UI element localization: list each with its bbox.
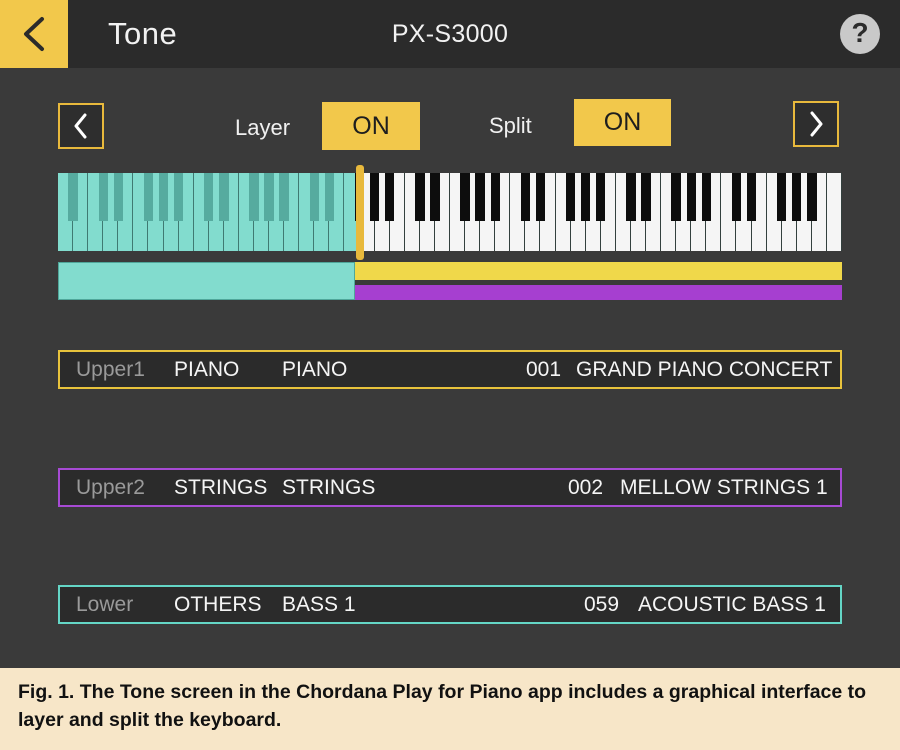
piano-black-key[interactable] xyxy=(807,173,816,221)
piano-black-key[interactable] xyxy=(581,173,590,221)
piano-black-key[interactable] xyxy=(460,173,469,221)
layer-toggle-button[interactable]: ON xyxy=(322,102,420,150)
piano-black-key[interactable] xyxy=(521,173,530,221)
tone-row-upper2[interactable]: Upper2 STRINGS STRINGS 002 MELLOW STRING… xyxy=(58,468,842,507)
tone-name: MELLOW STRINGS 1 xyxy=(620,476,828,500)
piano-black-key[interactable] xyxy=(491,173,500,221)
piano-black-key[interactable] xyxy=(687,173,696,221)
range-bar-upper1 xyxy=(355,262,842,280)
layer-label: Layer xyxy=(235,115,290,141)
piano-black-key[interactable] xyxy=(732,173,741,221)
keyboard-graphic[interactable] xyxy=(58,173,842,251)
piano-black-key[interactable] xyxy=(626,173,635,221)
piano-black-key[interactable] xyxy=(777,173,786,221)
question-mark-icon: ? xyxy=(851,19,868,47)
tone-part-label: Lower xyxy=(76,593,133,617)
tone-category: OTHERS xyxy=(174,593,262,617)
split-point-marker[interactable] xyxy=(356,165,364,260)
piano-black-key[interactable] xyxy=(174,173,183,221)
piano-black-key[interactable] xyxy=(702,173,711,221)
tone-row-upper1[interactable]: Upper1 PIANO PIANO 001 GRAND PIANO CONCE… xyxy=(58,350,842,389)
tone-part-label: Upper1 xyxy=(76,358,145,382)
app-screenshot: PX-S3000 Tone ? Layer ON Split ON xyxy=(0,0,900,668)
piano-black-key[interactable] xyxy=(566,173,575,221)
caption-text: Fig. 1. The Tone screen in the Chordana … xyxy=(18,678,882,735)
next-tone-button[interactable] xyxy=(793,101,839,147)
caption-body: The Tone screen in the Chordana Play for… xyxy=(18,681,866,731)
chevron-left-icon xyxy=(72,113,90,139)
piano-black-key[interactable] xyxy=(430,173,439,221)
piano-black-key[interactable] xyxy=(310,173,319,221)
chevron-right-icon xyxy=(807,111,825,137)
piano-black-key[interactable] xyxy=(144,173,153,221)
figure-label: Fig. 1. xyxy=(18,681,74,703)
tone-subcategory: PIANO xyxy=(282,358,347,382)
piano-black-key[interactable] xyxy=(747,173,756,221)
figure: PX-S3000 Tone ? Layer ON Split ON xyxy=(0,0,900,750)
piano-black-key[interactable] xyxy=(99,173,108,221)
piano-black-key[interactable] xyxy=(596,173,605,221)
tone-subcategory: STRINGS xyxy=(282,476,375,500)
piano-black-key[interactable] xyxy=(219,173,228,221)
piano-black-key[interactable] xyxy=(279,173,288,221)
help-button[interactable]: ? xyxy=(840,14,880,54)
tone-category: PIANO xyxy=(174,358,239,382)
tone-number: 001 xyxy=(526,358,561,382)
piano-black-key[interactable] xyxy=(325,173,334,221)
piano-black-key[interactable] xyxy=(641,173,650,221)
piano-black-key[interactable] xyxy=(370,173,379,221)
tone-row-lower[interactable]: Lower OTHERS BASS 1 059 ACOUSTIC BASS 1 xyxy=(58,585,842,624)
range-bar-upper2 xyxy=(355,285,842,300)
tone-number: 059 xyxy=(584,593,619,617)
range-bar-lower xyxy=(58,262,355,300)
piano-black-key[interactable] xyxy=(415,173,424,221)
piano-white-key[interactable] xyxy=(827,173,842,251)
back-button[interactable] xyxy=(0,0,68,68)
chevron-left-icon xyxy=(21,16,47,52)
tone-number: 002 xyxy=(568,476,603,500)
tone-subcategory: BASS 1 xyxy=(282,593,356,617)
piano-black-key[interactable] xyxy=(385,173,394,221)
piano-black-key[interactable] xyxy=(792,173,801,221)
piano-black-key[interactable] xyxy=(249,173,258,221)
keyboard-keys[interactable] xyxy=(58,173,842,251)
tone-category: STRINGS xyxy=(174,476,267,500)
range-bars xyxy=(58,262,842,300)
tone-name: ACOUSTIC BASS 1 xyxy=(638,593,826,617)
split-label: Split xyxy=(489,113,532,139)
piano-black-key[interactable] xyxy=(159,173,168,221)
tone-name: GRAND PIANO CONCERT xyxy=(576,358,832,382)
piano-black-key[interactable] xyxy=(204,173,213,221)
tone-part-label: Upper2 xyxy=(76,476,145,500)
piano-black-key[interactable] xyxy=(475,173,484,221)
piano-black-key[interactable] xyxy=(114,173,123,221)
figure-caption: Fig. 1. The Tone screen in the Chordana … xyxy=(0,668,900,750)
prev-tone-button[interactable] xyxy=(58,103,104,149)
piano-black-key[interactable] xyxy=(671,173,680,221)
layer-split-controls: Layer ON Split ON xyxy=(0,68,900,166)
page-title: Tone xyxy=(108,0,177,68)
title-bar: PX-S3000 Tone ? xyxy=(0,0,900,68)
piano-black-key[interactable] xyxy=(264,173,273,221)
piano-black-key[interactable] xyxy=(536,173,545,221)
split-toggle-button[interactable]: ON xyxy=(574,99,671,146)
piano-black-key[interactable] xyxy=(68,173,77,221)
